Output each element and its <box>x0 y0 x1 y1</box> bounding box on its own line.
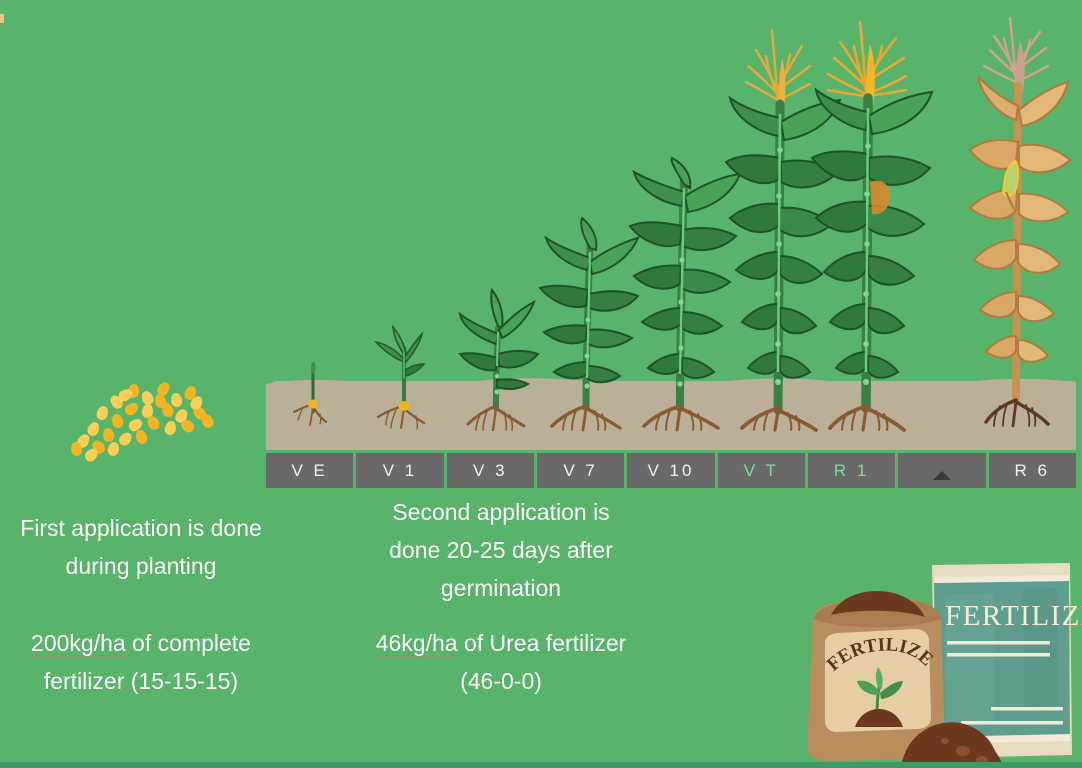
fertilizer-bag-teal-label: FERTILIZER <box>945 600 1082 632</box>
stage-label-v10: V 10 <box>647 461 694 481</box>
stage-label-ve: V E <box>291 461 327 481</box>
stage-label-v7: V 7 <box>563 461 598 481</box>
first-application-line1: First application is done <box>20 515 262 541</box>
corn-plant-r6 <box>950 10 1080 430</box>
first-rate-line2: fertilizer (15-15-15) <box>44 668 238 694</box>
fertilizer-sack-brown: FERTILIZER <box>788 539 945 761</box>
stage-label-r1: R 1 <box>834 461 869 481</box>
first-rate-rest: of complete <box>126 630 251 656</box>
second-application-line3: germination <box>441 575 561 601</box>
first-application-caption: First application is done during plantin… <box>8 509 274 585</box>
fertilizer-illustration: FERTILIZER FERTILIZER <box>795 555 1082 768</box>
second-application-line2: done 20-25 days after <box>389 537 613 563</box>
second-rate-rest: of Urea fertilizer <box>458 630 627 656</box>
second-rate-amount: 46kg/ha <box>376 630 458 658</box>
stage-cell-vt[interactable]: V T <box>718 453 805 488</box>
second-rate-line2: (46-0-0) <box>460 668 542 694</box>
stage-cell-v3[interactable]: V 3 <box>447 453 534 488</box>
edge-artifact <box>0 14 4 23</box>
second-application-line1: Second application is <box>392 499 609 525</box>
stage-label-r6: R 6 <box>1015 461 1050 481</box>
stage-cell-ve[interactable]: V E <box>266 453 353 488</box>
stage-label-v1: V 1 <box>383 461 418 481</box>
triangle-marker-icon <box>933 471 951 480</box>
stage-cell-r6[interactable]: R 6 <box>989 453 1076 488</box>
bottom-border-strip <box>0 762 1082 768</box>
corn-plant-v1 <box>362 318 452 430</box>
corn-seed-kernels <box>70 378 240 468</box>
corn-plant-ve <box>280 360 350 430</box>
growth-stage-timeline: V E V 1 V 3 V 7 V 10 V T R 1 R 6 <box>266 453 1076 488</box>
first-rate-caption: 200kg/ha of complete fertilizer (15-15-1… <box>8 624 274 700</box>
stage-cell-v7[interactable]: V 7 <box>537 453 624 488</box>
second-rate-caption: 46kg/ha of Urea fertilizer (46-0-0) <box>374 624 628 700</box>
first-application-line2: during planting <box>66 553 217 579</box>
corn-plant-r1 <box>790 16 950 430</box>
stage-cell-r1[interactable]: R 1 <box>808 453 895 488</box>
stage-cell-v1[interactable]: V 1 <box>356 453 443 488</box>
first-rate-amount: 200kg/ha <box>31 630 126 658</box>
second-application-caption: Second application is done 20-25 days af… <box>374 493 628 607</box>
stage-cell-marker[interactable] <box>898 453 985 488</box>
infographic-canvas: V E V 1 V 3 V 7 V 10 V T R 1 R 6 First a… <box>0 0 1082 768</box>
stage-cell-v10[interactable]: V 10 <box>627 453 714 488</box>
stage-label-v3: V 3 <box>473 461 508 481</box>
stage-label-vt: V T <box>744 461 779 481</box>
